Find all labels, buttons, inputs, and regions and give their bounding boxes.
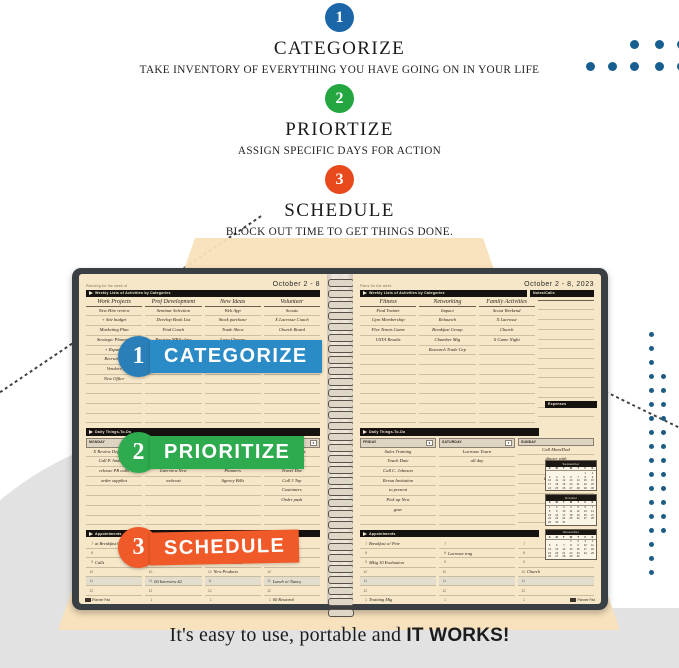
left-page-date: October 2 - 8 (273, 281, 320, 288)
calendar-day[interactable]: 26 (546, 555, 553, 559)
day-header: FRIDAY6 (360, 438, 436, 448)
triangle-icon (363, 532, 367, 536)
calendar-grid: SMTWTFS123456789101112131415161718192021… (546, 501, 596, 525)
todo-item[interactable] (145, 516, 201, 526)
todo-item[interactable] (439, 516, 515, 526)
spiral-coil (328, 532, 354, 540)
appointment-text: New Products (214, 569, 239, 574)
spiral-coil (328, 411, 354, 419)
category-item: Develop Book List (145, 316, 201, 326)
step-3-subtitle: BLOCK OUT TIME TO GET THINGS DONE. (0, 226, 679, 238)
appointment-hour: 12 (439, 589, 448, 593)
category-item (360, 355, 416, 365)
calendar-day[interactable]: 31 (560, 521, 567, 525)
todo-item[interactable]: Sales Training (360, 448, 436, 458)
category-item: Find Trainer (360, 307, 416, 317)
calendar-day[interactable] (589, 555, 596, 559)
spiral-coil (328, 466, 354, 474)
category-item (538, 320, 594, 330)
category-item (479, 404, 535, 414)
appointment-hour: 9 (360, 560, 369, 564)
right-weekly-section-bar: Weekly Lists of Activities by Categories (360, 290, 527, 297)
expenses-block: Expenses (545, 399, 597, 408)
appointment-text: Church (527, 569, 540, 574)
category-item (538, 388, 594, 398)
appointment-row[interactable]: 10 (264, 568, 320, 577)
calendar-day[interactable]: 27 (567, 487, 574, 491)
appointment-row[interactable]: 12 (264, 586, 320, 595)
calendar-day[interactable]: 30 (589, 487, 596, 491)
appointment-hour: 10 (145, 570, 154, 574)
spiral-coil (328, 290, 354, 298)
todo-item[interactable]: gear (360, 506, 436, 516)
category-item (419, 355, 475, 365)
appointment-hour: 10 (205, 570, 214, 574)
spiral-coil (328, 323, 354, 331)
appointment-hour: 12 (205, 589, 214, 593)
day-number: 7 (505, 440, 512, 446)
category-item (145, 394, 201, 404)
category-item (419, 375, 475, 385)
category-column-head: Family Activities (479, 299, 535, 307)
appointment-row[interactable]: 12 (518, 586, 594, 595)
category-item: New Hire review (86, 307, 142, 317)
calendar-week: 2627282930 (546, 555, 596, 559)
appointment-row[interactable]: 7Breakfast w/ Pete (360, 539, 436, 548)
appointment-hour: 11 (264, 579, 273, 583)
todo-item[interactable] (205, 496, 261, 506)
appointment-row[interactable]: 1 (145, 596, 201, 604)
appointment-row[interactable]: 1 (205, 596, 261, 604)
spiral-coil (328, 576, 354, 584)
todo-item[interactable]: Call 3 Top (264, 477, 320, 487)
appointment-text: 60 Interview #2 (154, 579, 182, 584)
todo-item[interactable] (205, 516, 261, 526)
spiral-coil (328, 499, 354, 507)
category-column-head: Work Projects (86, 299, 142, 307)
category-item: Scout Weekend (479, 307, 535, 317)
left-footer-logo: Planner Pad (85, 598, 110, 602)
category-item: Church (479, 326, 535, 336)
appointment-row[interactable]: 11 (205, 577, 261, 586)
appointment-hour: 8 (439, 551, 448, 555)
category-item (360, 414, 416, 424)
category-item (479, 375, 535, 385)
day-number: 6 (426, 440, 433, 446)
day-header: SUNDAY (518, 438, 594, 446)
category-item (205, 394, 261, 404)
category-item: Web App (205, 307, 261, 317)
spiral-coil (328, 444, 354, 452)
appointment-row[interactable]: 160 Research (264, 596, 320, 604)
step-2-badge: 2 (325, 84, 354, 113)
calendar-day[interactable]: 26 (560, 487, 567, 491)
calendar-day[interactable]: 25 (553, 487, 560, 491)
category-item (538, 310, 594, 320)
step-3-title: SCHEDULE (0, 200, 679, 222)
category-item: USTA Results (360, 336, 416, 346)
day-name: MONDAY (89, 440, 105, 446)
todo-item[interactable]: Order pads (264, 496, 320, 506)
triangle-icon (363, 291, 367, 295)
appointment-column: 7Breakfast w/ Pete89Mktg 30 Evaluation10… (360, 539, 436, 604)
right-daily-section-bar: Daily Things-To-Do (360, 428, 539, 435)
planner-right-page: Plans for the week October 2 - 8, 2023 W… (353, 274, 601, 604)
category-item: Flex Tennis Game (360, 326, 416, 336)
day-header: SATURDAY7 (439, 438, 515, 448)
category-item (538, 369, 594, 379)
tagline-text: It's easy to use, portable and (169, 624, 406, 646)
category-column: FitnessFind TrainerGym MembershipFlex Te… (360, 299, 416, 424)
calendar-day[interactable]: 28 (560, 555, 567, 559)
calendar-day[interactable]: 29 (546, 521, 553, 525)
appointment-hour: 10 (360, 570, 369, 574)
step-2: 2 PRIORTIZE ASSIGN SPECIFIC DAYS FOR ACT… (0, 84, 679, 157)
overlay-prioritize: 2 PRIORITIZE (118, 432, 304, 473)
appointment-text: Lacrosse trng (448, 551, 472, 556)
mini-calendar: NovemberSMTWTFS1234567891011121314151617… (545, 529, 597, 560)
calendar-day[interactable]: 24 (546, 487, 553, 491)
todo-item[interactable]: Agency Bills (205, 477, 261, 487)
tagline-emphasis: IT WORKS! (406, 625, 509, 646)
spiral-coil (328, 279, 354, 287)
todo-item[interactable] (145, 496, 201, 506)
spiral-coil (328, 609, 354, 617)
category-item (419, 414, 475, 424)
category-item (419, 404, 475, 414)
category-item: Relaunch (419, 316, 475, 326)
appointment-hour: 1 (264, 598, 273, 602)
category-item (538, 378, 594, 388)
right-daily-section-label: Daily Things-To-Do (369, 430, 405, 434)
category-item (86, 394, 142, 404)
spiral-coil (328, 433, 354, 441)
spiral-coil (328, 334, 354, 342)
left-top-note: Planning for the week of (86, 284, 127, 288)
spiral-coil (328, 422, 354, 430)
step-3-badge: 3 (325, 165, 354, 194)
right-weekly-section-label: Weekly Lists of Activities by Categories (369, 291, 445, 295)
category-item (86, 414, 142, 424)
todo-item[interactable]: order supplies (86, 477, 142, 487)
appointment-hour: 12 (360, 589, 369, 593)
appointment-hour: 9 (86, 560, 95, 564)
calendar-day[interactable] (567, 521, 574, 525)
category-column-head: Networking (419, 299, 475, 307)
step-1-badge: 1 (325, 3, 354, 32)
appointment-row[interactable]: 12 (360, 586, 436, 595)
appointment-hour: 1 (145, 598, 154, 602)
appointment-hour: 7 (86, 542, 95, 546)
appointment-row[interactable]: 1160 Interview #2 (145, 577, 201, 586)
todo-item[interactable] (360, 516, 436, 526)
left-page-header: Planning for the week of October 2 - 8 (86, 281, 320, 288)
spiral-coil (328, 488, 354, 496)
appointment-text: Lunch w/ Nancy (273, 579, 302, 584)
appointment-hour: 11 (439, 579, 448, 583)
appointment-hour: 7 (518, 542, 527, 546)
calendar-day[interactable] (575, 521, 582, 525)
todo-item[interactable] (86, 516, 142, 526)
appointment-hour: 10 (439, 570, 448, 574)
planner-pad-logo-icon (85, 598, 91, 602)
category-item (360, 384, 416, 394)
calendar-day[interactable]: 30 (575, 555, 582, 559)
calendar-week: 293031 (546, 521, 596, 525)
appointment-text: Training Mtg (369, 597, 392, 602)
right-appts-section-label: Appointments (369, 532, 396, 536)
category-column-head: Prof Development (145, 299, 201, 307)
category-item (264, 384, 320, 394)
spiral-coil (328, 510, 354, 518)
todo-item[interactable]: Call Mom/Dad (518, 446, 594, 456)
category-item: Scouts (264, 307, 320, 317)
category-item (419, 394, 475, 404)
triangle-icon (89, 430, 93, 434)
appointment-row[interactable]: 11 (360, 577, 436, 586)
category-item (538, 301, 594, 311)
right-page-date: October 2 - 8, 2023 (524, 281, 594, 288)
day-number: 5 (310, 440, 317, 446)
category-item (538, 340, 594, 350)
overlay-3-label: SCHEDULE (150, 529, 300, 565)
calendar-day[interactable]: 27 (553, 555, 560, 559)
step-1: 1 CATEGORIZE TAKE INVENTORY OF EVERYTHIN… (0, 0, 679, 76)
todo-item[interactable] (145, 506, 201, 516)
appointment-hour: 12 (145, 589, 154, 593)
category-item (86, 404, 142, 414)
appointment-row[interactable]: 12 (145, 586, 201, 595)
expenses-label: Expenses (548, 402, 566, 406)
appointment-hour: 1 (518, 598, 527, 602)
day-column: FRIDAY6Sales TrainingTouch DateCall C. J… (360, 438, 436, 526)
spiral-coil (328, 598, 354, 606)
calendar-day[interactable] (589, 521, 596, 525)
calendar-day[interactable]: 29 (582, 487, 589, 491)
day-name: FRIDAY (363, 440, 377, 446)
planner-pad-logo-icon (570, 598, 576, 602)
day-name: SATURDAY (442, 440, 462, 446)
appointment-text: 60 Research (273, 597, 295, 602)
appointment-row[interactable]: 10 (145, 568, 201, 577)
day-name: SUNDAY (521, 440, 536, 444)
todo-item[interactable]: all day (439, 457, 515, 467)
appointment-row[interactable]: 11 (86, 577, 142, 586)
spiral-coil (328, 400, 354, 408)
category-item (145, 384, 201, 394)
left-footer-logo-label: Planner Pad (93, 598, 111, 602)
right-footer-logo-label: Planner Pad (577, 598, 595, 602)
category-item (479, 355, 535, 365)
appointment-text: Mktg 30 Evaluation (369, 560, 404, 565)
appointment-row[interactable]: 1 (439, 596, 515, 604)
appointment-hour: 12 (518, 589, 527, 593)
spiral-coil (328, 378, 354, 386)
todo-item[interactable] (86, 486, 142, 496)
calendar-day[interactable]: 29 (567, 555, 574, 559)
appointment-row[interactable]: 11 (518, 577, 594, 586)
appointment-row[interactable]: 8Lacrosse trng (439, 549, 515, 558)
appointment-hour: 8 (518, 551, 527, 555)
appointment-row[interactable]: 9 (439, 558, 515, 567)
category-item: X Lacrosse Coach (264, 316, 320, 326)
category-item: Marketing Plan (86, 326, 142, 336)
calendar-day[interactable] (582, 555, 589, 559)
appointment-row[interactable]: 7 (439, 539, 515, 548)
spiral-coil (328, 543, 354, 551)
category-item (419, 384, 475, 394)
expenses-bar: Expenses (545, 401, 597, 408)
todo-item[interactable]: Lacrosse Tourn (439, 448, 515, 458)
appointment-hour: 8 (86, 551, 95, 555)
appointment-column: 78Lacrosse trng910111212345678 (439, 539, 515, 604)
appointment-row[interactable]: 10 (86, 568, 142, 577)
step-3: 3 SCHEDULE BLOCK OUT TIME TO GET THINGS … (0, 165, 679, 238)
dot-cluster-right-column (645, 330, 679, 630)
appointment-row[interactable]: 9Mktg 30 Evaluation (360, 558, 436, 567)
category-item (538, 359, 594, 369)
right-notes-section-label: Notes/Calls (533, 291, 555, 295)
spiral-coil (328, 455, 354, 463)
category-item: Impact (419, 307, 475, 317)
triangle-icon (89, 532, 93, 536)
calendar-grid: SMTWTFS123456789101112131415161718192021… (546, 535, 596, 559)
appointment-row[interactable]: 12 (205, 586, 261, 595)
category-item (145, 414, 201, 424)
category-item (360, 394, 416, 404)
spiral-coil (328, 587, 354, 595)
todo-item[interactable] (86, 506, 142, 516)
category-item (538, 349, 594, 359)
appointment-row[interactable]: 10 (360, 568, 436, 577)
todo-item[interactable]: webcast (145, 477, 201, 487)
category-item: Find Coach (145, 326, 201, 336)
category-item (479, 394, 535, 404)
spiral-coil (328, 565, 354, 573)
category-column-head: Fitness (360, 299, 416, 307)
appointment-hour: 10 (518, 570, 527, 574)
category-item: Church Board (264, 326, 320, 336)
overlay-schedule: 3 SCHEDULE (118, 527, 299, 568)
category-item (419, 365, 475, 375)
category-item: Breakfast Group (419, 326, 475, 336)
appointment-row[interactable]: 10 (439, 568, 515, 577)
category-item (479, 346, 535, 356)
appointment-row[interactable]: 10New Products (205, 568, 261, 577)
category-column-head: Volunteer (264, 299, 320, 307)
triangle-icon (363, 430, 367, 434)
todo-item[interactable]: Customers (264, 486, 320, 496)
appointment-row[interactable]: 8 (360, 549, 436, 558)
overlay-1-label: CATEGORIZE (150, 340, 322, 373)
tagline: It's easy to use, portable and IT WORKS! (0, 624, 679, 647)
appointment-hour: 10 (86, 570, 95, 574)
step-1-title: CATEGORIZE (0, 38, 679, 60)
calendar-grid: SMTWTFS123456789101112131415161718192021… (546, 467, 596, 491)
left-weekly-section-label: Weekly Lists of Activities by Categories (95, 291, 171, 295)
category-column-head: New Ideas (205, 299, 261, 307)
todo-item[interactable]: Pick up New (360, 496, 436, 506)
spiral-coil (328, 312, 354, 320)
appointment-hour: 10 (264, 570, 273, 574)
todo-item[interactable] (264, 516, 320, 526)
left-weekly-section-bar: Weekly Lists of Activities by Categories (86, 290, 320, 297)
spiral-coil (328, 301, 354, 309)
todo-item[interactable] (439, 486, 515, 496)
appointment-row[interactable]: 12 (86, 586, 142, 595)
calendar-day[interactable]: 28 (575, 487, 582, 491)
category-item (538, 330, 594, 340)
todo-item[interactable] (439, 506, 515, 516)
appointment-hour: 7 (360, 542, 369, 546)
appointment-hour: 9 (518, 560, 527, 564)
spiral-coil (328, 367, 354, 375)
appointment-hour: 11 (145, 579, 154, 583)
todo-item[interactable] (86, 496, 142, 506)
category-item: Seminar Selection (145, 307, 201, 317)
appointment-row[interactable]: 12 (439, 586, 515, 595)
category-item (479, 414, 535, 424)
overlay-2-label: PRIORITIZE (150, 436, 304, 469)
mini-calendar: OctoberSMTWTFS12345678910111213141516171… (545, 494, 597, 525)
todo-item[interactable] (145, 486, 201, 496)
category-item: Stock purchase (205, 316, 261, 326)
right-appts-section-bar: Appointments (360, 530, 539, 537)
category-column: Family ActivitiesScout WeekendX Lacrosse… (479, 299, 535, 424)
category-item: Chamber Mtg (419, 336, 475, 346)
appointment-row[interactable]: 1Training Mtg (360, 596, 436, 604)
appointment-hour: 11 (360, 579, 369, 583)
category-item (264, 404, 320, 414)
appointment-hour: 1 (205, 598, 214, 602)
todo-item[interactable] (205, 486, 261, 496)
mini-calendars: SeptemberSMTWTFS123456789101112131415161… (545, 460, 597, 563)
todo-item[interactable] (439, 496, 515, 506)
todo-item[interactable] (439, 467, 515, 477)
appointment-hour: 7 (439, 542, 448, 546)
category-item (264, 394, 320, 404)
spiral-coil (328, 554, 354, 562)
category-item: Research Trade Grp (419, 346, 475, 356)
appointment-row[interactable]: 11 (439, 577, 515, 586)
category-item: + Site budget (86, 316, 142, 326)
todo-item[interactable] (264, 506, 320, 516)
appointment-hour: 11 (86, 579, 95, 583)
category-item (479, 384, 535, 394)
todo-item[interactable]: Touch Date (360, 457, 436, 467)
category-item (360, 375, 416, 385)
todo-item[interactable]: to present (360, 486, 436, 496)
category-item (205, 404, 261, 414)
todo-item[interactable]: Rerun Invitation (360, 477, 436, 487)
category-item (145, 404, 201, 414)
spiral-coil (328, 345, 354, 353)
calendar-day[interactable]: 30 (553, 521, 560, 525)
appointment-row[interactable]: 11Lunch w/ Nancy (264, 577, 320, 586)
category-column: NetworkingImpactRelaunchBreakfast GroupC… (419, 299, 475, 424)
category-item (264, 414, 320, 424)
appointment-hour: 11 (205, 579, 214, 583)
category-item: X Game Night (479, 336, 535, 346)
todo-item[interactable] (439, 477, 515, 487)
todo-item[interactable]: Call C. Johnson (360, 467, 436, 477)
todo-item[interactable] (205, 506, 261, 516)
step-1-subtitle: TAKE INVENTORY OF EVERYTHING YOU HAVE GO… (0, 64, 679, 76)
appointment-row[interactable]: 10Church (518, 568, 594, 577)
appointment-hour: 12 (264, 589, 273, 593)
category-item (86, 384, 142, 394)
calendar-day[interactable] (582, 521, 589, 525)
